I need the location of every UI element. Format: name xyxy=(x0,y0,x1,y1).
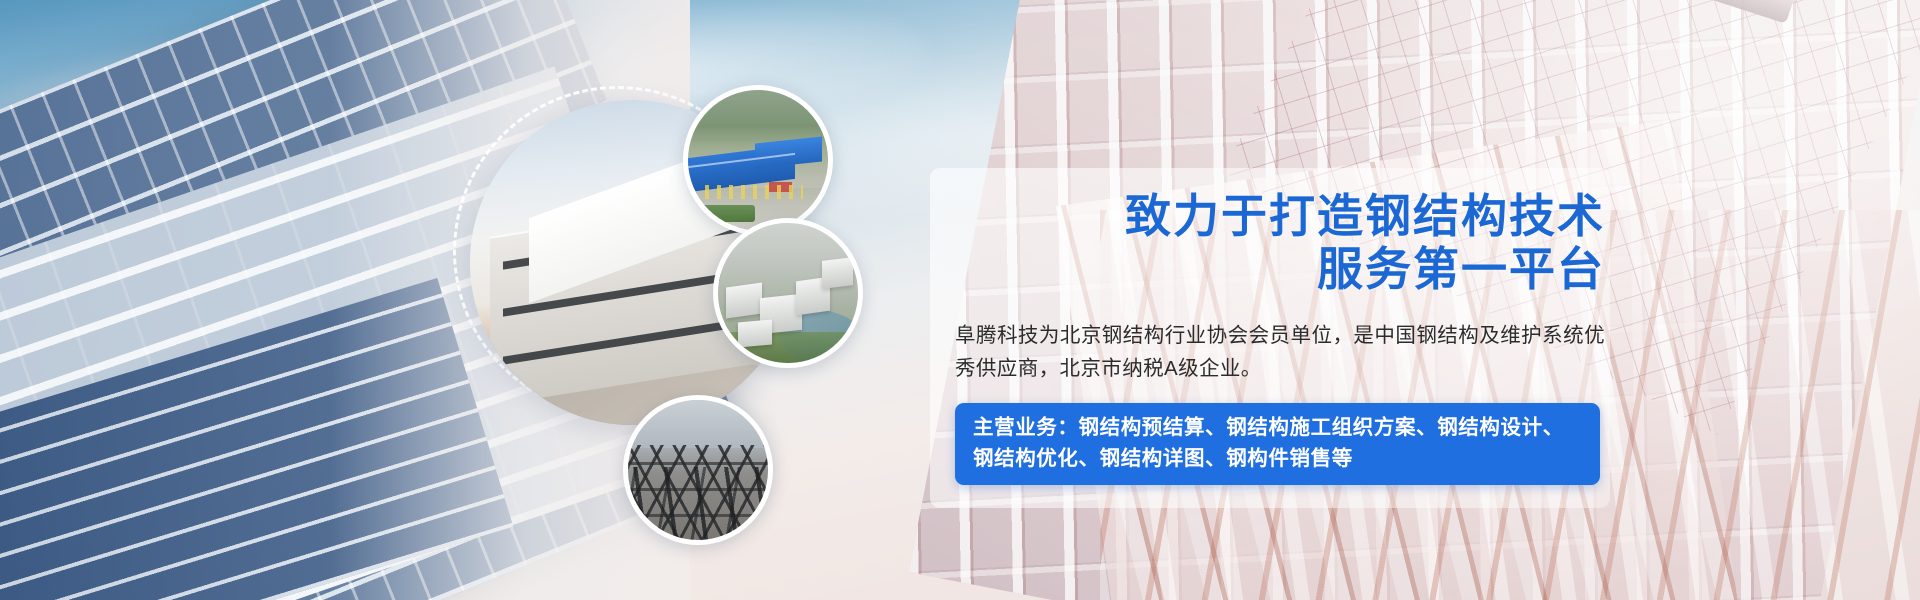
truss-sky xyxy=(628,400,768,448)
factory-vehicles xyxy=(705,185,803,199)
lead-paragraph: 阜腾科技为北京钢结构行业协会会员单位，是中国钢结构及维护系统优秀供应商，北京市纳… xyxy=(955,319,1605,385)
headline-line-2: 服务第一平台 xyxy=(955,243,1605,296)
banner-text-content: 致力于打造钢结构技术 服务第一平台 阜腾科技为北京钢结构行业协会会员单位，是中国… xyxy=(955,190,1605,485)
park-building-block xyxy=(726,282,762,318)
small-circle-photo-factory xyxy=(683,85,833,235)
park-building-block xyxy=(822,257,853,289)
gray-industrial-park-aerial-photo xyxy=(718,223,858,363)
steel-truss-structure-photo xyxy=(628,400,768,540)
blue-roof-factory-aerial-photo xyxy=(688,90,828,230)
page-title: 致力于打造钢结构技术 服务第一平台 xyxy=(955,190,1605,297)
headline-line-1: 致力于打造钢结构技术 xyxy=(955,190,1605,243)
small-circle-photo-steel-truss xyxy=(623,395,773,545)
hero-banner: 致力于打造钢结构技术 服务第一平台 阜腾科技为北京钢结构行业协会会员单位，是中国… xyxy=(0,0,1920,600)
truss-lattice-secondary xyxy=(623,467,773,545)
services-badge: 主营业务：钢结构预结算、钢结构施工组织方案、钢结构设计、钢结构优化、钢结构详图、… xyxy=(955,403,1600,485)
small-circle-photo-industrial-park xyxy=(713,218,863,368)
park-building-block xyxy=(738,320,772,348)
factory-greenery xyxy=(699,205,755,222)
